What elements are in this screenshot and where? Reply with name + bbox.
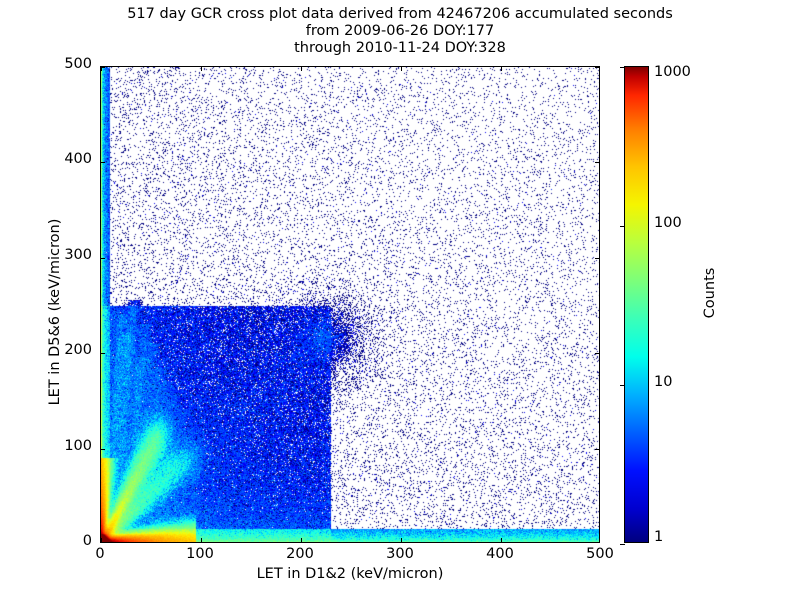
- colorbar-tick: [620, 385, 625, 386]
- figure: 517 day GCR cross plot data derived from…: [0, 0, 800, 600]
- y-tick: [101, 449, 105, 450]
- title-line-1: 517 day GCR cross plot data derived from…: [0, 6, 800, 23]
- colorbar-ticklabel: 10: [654, 374, 672, 390]
- y-tick: [101, 258, 105, 259]
- colorbar-ticklabel: 1000: [654, 64, 691, 80]
- x-tick: [501, 538, 502, 542]
- colorbar-tick: [620, 544, 625, 545]
- x-ticklabel: 200: [265, 546, 335, 562]
- x-tick: [101, 538, 102, 542]
- x-ticklabel: 100: [165, 546, 235, 562]
- x-ticklabel: 300: [365, 546, 435, 562]
- x-tick: [501, 67, 502, 71]
- plot-title: 517 day GCR cross plot data derived from…: [0, 6, 800, 57]
- heatmap-canvas: [101, 67, 600, 543]
- y-tick: [595, 258, 599, 259]
- x-tick: [401, 67, 402, 71]
- title-line-2: from 2009-06-26 DOY:177: [0, 23, 800, 40]
- colorbar-ticklabel: 1: [654, 529, 663, 545]
- x-ticklabel: 500: [565, 546, 635, 562]
- y-ticklabel: 500: [32, 56, 92, 72]
- colorbar-label: Counts: [702, 193, 718, 393]
- colorbar-tick: [620, 67, 625, 68]
- y-tick: [595, 67, 599, 68]
- x-tick: [201, 67, 202, 71]
- y-tick: [101, 67, 105, 68]
- x-axis-label: LET in D1&2 (keV/micron): [100, 566, 600, 582]
- x-tick: [401, 538, 402, 542]
- plot-axes: [100, 66, 600, 543]
- x-ticklabel: 400: [465, 546, 535, 562]
- colorbar-ticklabel: 100: [654, 215, 682, 231]
- colorbar-tick: [620, 226, 625, 227]
- y-ticklabel: 0: [32, 533, 92, 549]
- title-line-3: through 2010-11-24 DOY:328: [0, 40, 800, 57]
- y-tick: [595, 353, 599, 354]
- y-tick: [101, 353, 105, 354]
- x-tick: [301, 538, 302, 542]
- colorbar: [624, 66, 649, 543]
- x-tick: [201, 538, 202, 542]
- x-tick: [301, 67, 302, 71]
- y-tick: [595, 449, 599, 450]
- y-axis-label: LET in D5&6 (keV/micron): [47, 162, 63, 462]
- y-tick: [595, 162, 599, 163]
- y-tick: [101, 162, 105, 163]
